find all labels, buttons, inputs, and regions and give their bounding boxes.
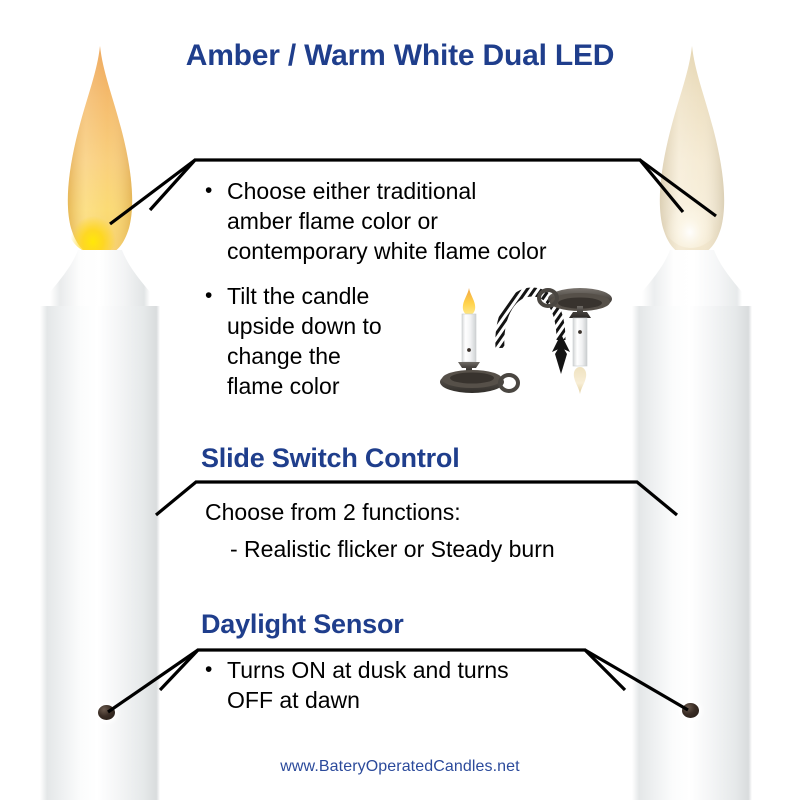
bullet-label: Choose either traditional amber flame co…	[227, 176, 547, 266]
warm-white-flame-icon	[653, 44, 731, 264]
daylight-sensor-dot-right	[682, 703, 699, 718]
footer-website-url: www.BateryOperatedCandles.net	[0, 758, 800, 776]
section-heading-slide-switch: Slide Switch Control	[201, 443, 460, 474]
candle-right-body	[632, 306, 752, 800]
infographic-canvas: Amber / Warm White Dual LED • Choose eit…	[0, 0, 800, 800]
bullet-marker-icon: •	[205, 281, 227, 311]
bullet-item: • Turns ON at dusk and turns OFF at dawn	[205, 655, 509, 715]
bullet-label: Tilt the candle upside down to change th…	[227, 281, 382, 401]
feature-flame-color: • Choose either traditional amber flame …	[205, 176, 547, 266]
slide-switch-options: - Realistic flicker or Steady burn	[230, 534, 555, 564]
bullet-marker-icon: •	[205, 655, 227, 685]
candle-right-collar	[636, 250, 748, 312]
bullet-marker-icon: •	[205, 176, 227, 206]
candle-left-collar	[44, 250, 156, 312]
tilt-demo-illustration	[428, 282, 618, 404]
daylight-sensor-feature: • Turns ON at dusk and turns OFF at dawn	[205, 655, 509, 715]
candle-left-body	[40, 306, 160, 800]
bullet-item: • Choose either traditional amber flame …	[205, 176, 547, 266]
candle-right-warm-white	[632, 0, 752, 800]
slide-switch-intro: Choose from 2 functions:	[205, 497, 461, 527]
candle-left-amber	[40, 0, 160, 800]
section-heading-daylight-sensor: Daylight Sensor	[201, 609, 404, 640]
bullet-label: Turns ON at dusk and turns OFF at dawn	[227, 655, 509, 715]
daylight-sensor-dot-left	[98, 705, 115, 720]
amber-flame-icon	[61, 44, 139, 264]
bullet-item: • Tilt the candle upside down to change …	[205, 281, 382, 401]
feature-tilt: • Tilt the candle upside down to change …	[205, 281, 382, 401]
inverted-candle-group	[539, 288, 612, 394]
page-title: Amber / Warm White Dual LED	[0, 39, 800, 73]
